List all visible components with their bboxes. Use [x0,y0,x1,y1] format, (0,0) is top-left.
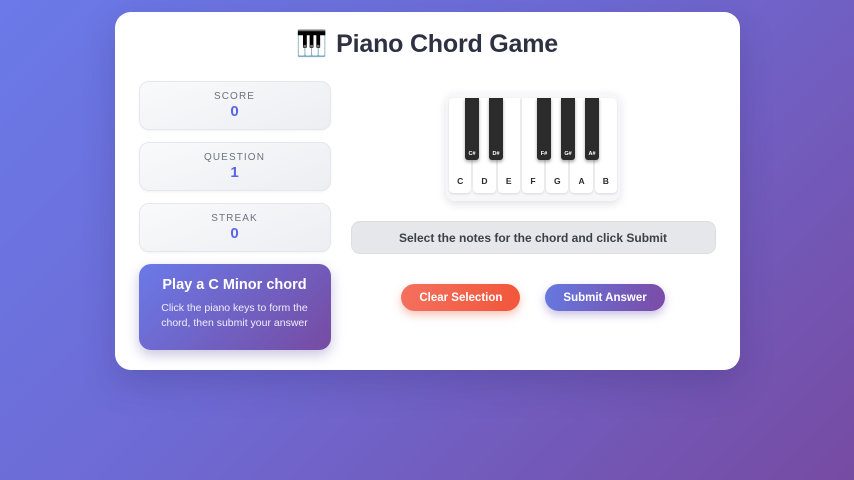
clear-selection-button[interactable]: Clear Selection [401,284,520,311]
piano-icon: 🎹 [296,32,327,57]
app-card: 🎹 Piano Chord Game SCORE 0 QUESTION 1 ST… [115,12,740,370]
stat-card-question: QUESTION 1 [139,142,331,191]
page-title: 🎹 Piano Chord Game [139,30,716,59]
piano-key-label: C [457,176,463,186]
chord-prompt-title: Play a C Minor chord [153,277,317,294]
piano-key-label: A [578,176,584,186]
submit-answer-button[interactable]: Submit Answer [545,284,664,311]
stat-label-streak: STREAK [211,213,258,224]
stat-card-score: SCORE 0 [139,81,331,130]
piano-key-label: G# [564,151,571,157]
status-message: Select the notes for the chord and click… [399,231,667,245]
piano-keyboard: C D E F G [446,93,620,201]
stat-label-question: QUESTION [204,152,265,163]
play-panel: C D E F G [351,81,716,350]
piano-keys: C D E F G [449,98,617,193]
stat-value-score: 0 [230,104,238,120]
piano-key-label: C# [468,151,475,157]
chord-prompt-card: Play a C Minor chord Click the piano key… [139,264,331,350]
piano-key-f-sharp[interactable]: F# [537,98,551,160]
stats-panel: SCORE 0 QUESTION 1 STREAK 0 Play a C Min… [139,81,331,350]
piano-key-label: F [530,176,535,186]
stat-label-score: SCORE [214,91,255,102]
stat-value-streak: 0 [230,226,238,242]
piano-key-label: G [554,176,561,186]
piano-key-label: F# [541,151,547,157]
stat-card-streak: STREAK 0 [139,203,331,252]
status-bar: Select the notes for the chord and click… [351,221,716,254]
piano-key-d-sharp[interactable]: D# [489,98,503,160]
piano-key-label: A# [588,151,595,157]
app-title-text: Piano Chord Game [336,30,558,59]
action-buttons: Clear Selection Submit Answer [401,284,664,311]
piano-key-g-sharp[interactable]: G# [561,98,575,160]
piano-key-label: E [506,176,512,186]
chord-prompt-subtitle: Click the piano keys to form the chord, … [153,301,317,331]
piano-key-label: D# [492,151,499,157]
piano-key-label: B [603,176,609,186]
piano-key-c-sharp[interactable]: C# [465,98,479,160]
piano-key-a-sharp[interactable]: A# [585,98,599,160]
piano-key-label: D [481,176,487,186]
main-content: SCORE 0 QUESTION 1 STREAK 0 Play a C Min… [139,81,716,350]
stat-value-question: 1 [230,165,238,181]
